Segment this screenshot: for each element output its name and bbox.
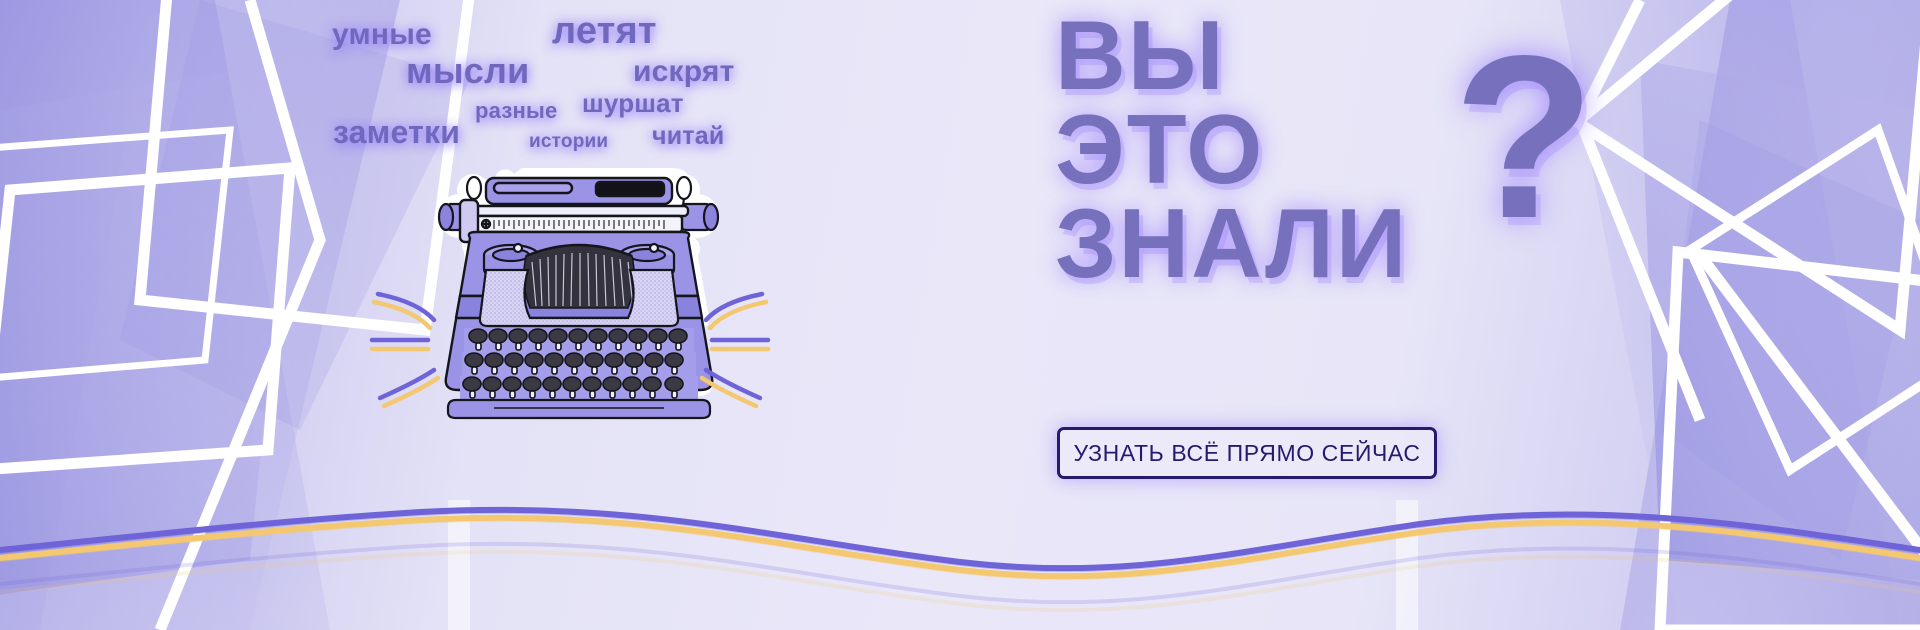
cloud-word: мысли <box>406 50 529 92</box>
headline-block: ВЫ ЭТО ЗНАЛИ ? <box>1055 8 1485 290</box>
wave-decoration <box>0 480 1920 630</box>
promo-banner: умныелетятмыслиискрятразныешуршатзаметки… <box>0 0 1920 630</box>
cloud-word: шуршат <box>582 88 684 119</box>
speed-lines <box>360 280 780 410</box>
cloud-word: разные <box>475 98 557 124</box>
question-mark-icon: ? <box>1453 22 1595 254</box>
cloud-word: заметки <box>333 114 460 151</box>
cta-button[interactable]: УЗНАТЬ ВСЁ ПРЯМО СЕЙЧАС <box>1057 427 1437 479</box>
cloud-word: умные <box>332 18 432 52</box>
cloud-word: истории <box>529 131 608 153</box>
headline-line-1: ВЫ <box>1055 8 1485 102</box>
headline-line-2: ЭТО <box>1055 102 1485 196</box>
cloud-word: читай <box>652 122 724 151</box>
cloud-word: искрят <box>633 55 734 89</box>
headline-line-3: ЗНАЛИ <box>1055 196 1485 290</box>
wave-yellow <box>0 518 1920 576</box>
cloud-word: летят <box>552 10 657 53</box>
